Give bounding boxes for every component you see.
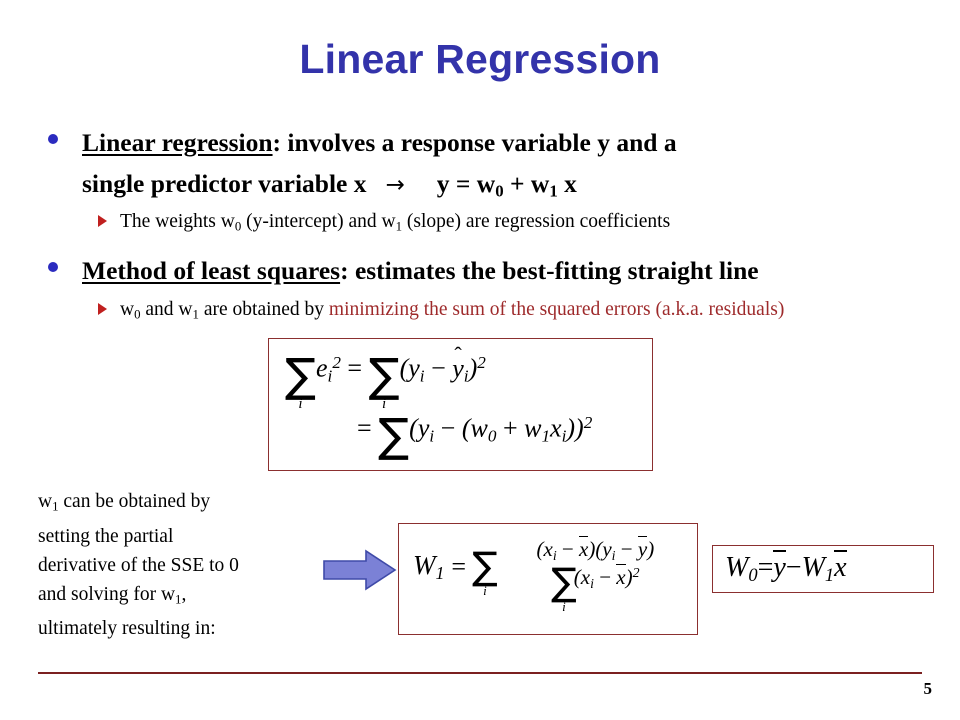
y-bar: y	[638, 537, 647, 562]
bullet-least-squares: Method of least squares: estimates the b…	[46, 250, 759, 291]
w1-formula-box: W1 = ∑i (xi − x)(yi − y) ∑i(xi − x)2	[398, 523, 698, 635]
y-hat: ˆy	[452, 354, 464, 384]
sub-bullet-text: The weights w0 (y-intercept) and w1 (slo…	[120, 208, 670, 241]
sub-bullet-minimizing-note: w0 and w1 are obtained by minimizing the…	[98, 296, 838, 329]
triangle-bullet-icon	[98, 215, 107, 227]
sse-equation-line-1: ∑iei2 = ∑i(yi − ˆyi)2	[285, 353, 486, 393]
triangle-bullet-icon	[98, 303, 107, 315]
w1-equation: W1 = ∑i (xi − x)(yi − y) ∑i(xi − x)2	[413, 536, 697, 598]
footer-divider	[38, 672, 922, 674]
page-title: Linear Regression	[0, 36, 960, 83]
sub-bullet-weights-note: The weights w0 (y-intercept) and w1 (slo…	[98, 208, 670, 241]
bullet-line-2: single predictor variable x → y = w0 + w…	[82, 163, 677, 212]
w0-formula-box: W0=y−W1x	[712, 545, 934, 593]
right-arrow-icon: →	[386, 172, 405, 198]
summation-icon: ∑i	[551, 568, 577, 598]
x-bar: x	[834, 552, 846, 584]
equation-y-eq: y = w0 + w1 x	[437, 169, 577, 198]
bullet-term-linear-regression: Linear regression	[82, 128, 273, 157]
summation-icon: ∑	[378, 418, 409, 454]
bullet-line2-lead: single predictor variable x	[82, 169, 367, 198]
sse-formula-box: ∑iei2 = ∑i(yi − ˆyi)2 = ∑(yi − (w0 + w1x…	[268, 338, 653, 471]
w1-lhs: W1	[413, 550, 451, 584]
slide-canvas: Linear Regression Linear regression: inv…	[0, 0, 960, 720]
sub-bullet-highlight: minimizing the sum of the squared errors…	[329, 299, 784, 320]
summation-icon: ∑i	[285, 358, 316, 394]
bullet-linear-regression: Linear regression: involves a response v…	[46, 122, 677, 212]
bullet-rest-1: : involves a response variable y and a	[273, 128, 677, 157]
x-bar: x	[579, 537, 588, 562]
w1-derivation-note: w1 can be obtained by setting the partia…	[38, 487, 293, 643]
bullet-dot-icon	[48, 262, 58, 272]
bullet-dot-icon	[48, 134, 58, 144]
sse-equation-line-2: = ∑(yi − (w0 + w1xi))2	[357, 413, 592, 453]
summation-icon: ∑i	[472, 552, 498, 582]
bullet-term-least-squares: Method of least squares	[82, 256, 340, 285]
y-bar: y	[773, 552, 785, 584]
bullet-line-1: Method of least squares: estimates the b…	[82, 250, 759, 291]
blue-block-arrow-icon	[322, 548, 398, 592]
w0-equation: W0=y−W1x	[725, 552, 847, 586]
x-bar: x	[616, 565, 625, 590]
w1-denominator: ∑i(xi − x)2	[545, 559, 645, 589]
sub-bullet-text: w0 and w1 are obtained by minimizing the…	[120, 296, 838, 329]
summation-icon: ∑i	[369, 358, 400, 394]
bullet-line-1: Linear regression: involves a response v…	[82, 122, 677, 163]
bullet-rest-2: : estimates the best-fitting straight li…	[340, 256, 759, 285]
w1-fraction: (xi − x)(yi − y) ∑i(xi − x)2	[494, 536, 697, 598]
page-number: 5	[924, 679, 933, 699]
